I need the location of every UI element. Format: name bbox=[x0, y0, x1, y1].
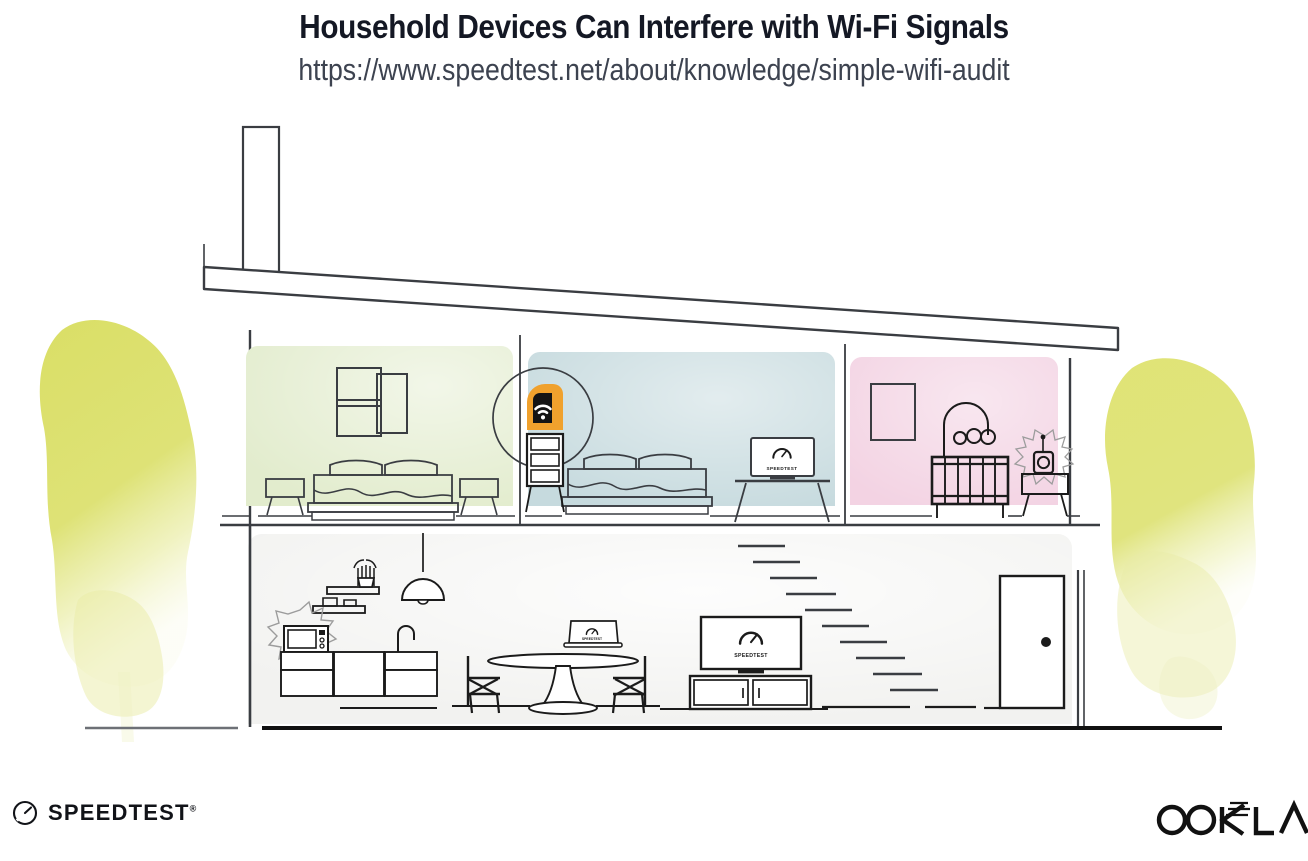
house-cutaway-illustration: SPEEDTEST bbox=[0, 0, 1308, 861]
speedometer-gauge-icon bbox=[12, 800, 38, 826]
ookla-wordmark bbox=[1144, 795, 1308, 843]
tv-screen-label: SPEEDTEST bbox=[734, 653, 768, 659]
room-bedroom-green bbox=[222, 346, 515, 520]
kitchen-counter bbox=[281, 652, 437, 696]
lower-floor: SPEEDTEST bbox=[248, 525, 1084, 727]
tree-left bbox=[40, 320, 197, 742]
tree-right bbox=[1105, 358, 1256, 719]
infographic-page: Household Devices Can Interfere with Wi-… bbox=[0, 0, 1308, 861]
door-knob-icon[interactable] bbox=[1041, 637, 1051, 647]
roof-and-chimney bbox=[204, 127, 1118, 350]
television: SPEEDTEST bbox=[701, 617, 801, 673]
laptop-screen-label: SPEEDTEST bbox=[582, 637, 603, 641]
monitor-screen-label: SPEEDTEST bbox=[767, 466, 798, 471]
monitor: SPEEDTEST bbox=[751, 438, 814, 479]
room-nursery-pink bbox=[850, 357, 1080, 518]
registered-mark: ® bbox=[190, 804, 198, 814]
ookla-logo bbox=[1144, 795, 1308, 843]
speedtest-wordmark: SPEEDTEST® bbox=[48, 800, 197, 826]
room-bedroom-blue: SPEEDTEST bbox=[493, 352, 840, 522]
media-console bbox=[690, 676, 811, 709]
speedtest-logo: SPEEDTEST® bbox=[12, 800, 197, 826]
laptop: SPEEDTEST bbox=[564, 621, 622, 647]
wifi-router bbox=[527, 384, 563, 430]
microwave bbox=[284, 626, 328, 652]
